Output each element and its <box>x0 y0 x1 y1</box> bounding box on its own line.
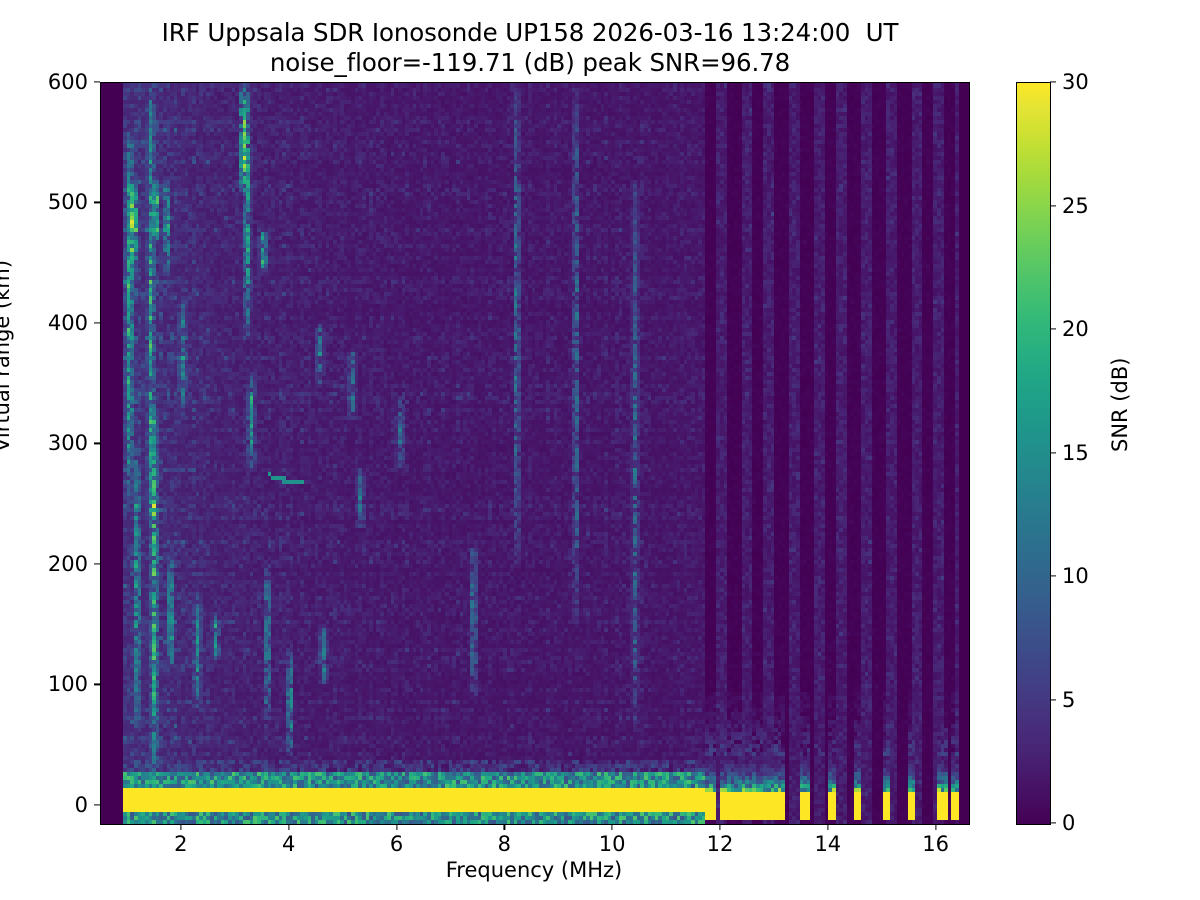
x-tick-label: 2 <box>174 832 187 856</box>
y-tick-label: 0 <box>26 793 88 817</box>
x-tick-label: 14 <box>814 832 841 856</box>
y-tick-mark <box>94 684 100 685</box>
x-axis-label: Frequency (MHz) <box>100 858 968 882</box>
colorbar-tick-label: 0 <box>1062 811 1075 835</box>
title-line-2: noise_floor=-119.71 (dB) peak SNR=96.78 <box>0 48 1060 78</box>
colorbar-label: SNR (dB) <box>1108 358 1132 452</box>
colorbar-tick-mark <box>1050 699 1056 700</box>
colorbar-tick-mark <box>1050 205 1056 206</box>
x-tick-label: 12 <box>707 832 734 856</box>
colorbar-tick-label: 25 <box>1062 194 1089 218</box>
ionogram-heatmap <box>101 83 969 824</box>
y-tick-label: 500 <box>26 190 88 214</box>
y-tick-label: 100 <box>26 672 88 696</box>
colorbar-tick-label: 15 <box>1062 441 1089 465</box>
x-tick-mark <box>612 824 613 830</box>
colorbar-tick-mark <box>1050 452 1056 453</box>
x-tick-mark <box>504 824 505 830</box>
y-tick-mark <box>94 804 100 805</box>
plot-axes <box>100 82 970 825</box>
ionogram-figure: IRF Uppsala SDR Ionosonde UP158 2026-03-… <box>0 0 1200 900</box>
y-axis-label: Virtual range (km) <box>0 260 14 452</box>
x-tick-mark <box>180 824 181 830</box>
colorbar-tick-label: 5 <box>1062 688 1075 712</box>
colorbar-tick-mark <box>1050 575 1056 576</box>
x-tick-label: 16 <box>922 832 949 856</box>
x-tick-mark <box>288 824 289 830</box>
x-tick-label: 8 <box>498 832 511 856</box>
colorbar-tick-label: 30 <box>1062 70 1089 94</box>
y-tick-mark <box>94 563 100 564</box>
x-tick-label: 10 <box>599 832 626 856</box>
x-tick-label: 4 <box>282 832 295 856</box>
x-tick-mark <box>935 824 936 830</box>
y-tick-mark <box>94 443 100 444</box>
colorbar <box>1016 82 1051 825</box>
y-tick-mark <box>94 81 100 82</box>
y-tick-label: 300 <box>26 431 88 455</box>
x-tick-mark <box>396 824 397 830</box>
y-tick-label: 400 <box>26 311 88 335</box>
y-tick-mark <box>94 202 100 203</box>
x-tick-mark <box>827 824 828 830</box>
colorbar-tick-mark <box>1050 81 1056 82</box>
title-line-1: IRF Uppsala SDR Ionosonde UP158 2026-03-… <box>0 18 1060 48</box>
colorbar-tick-label: 10 <box>1062 564 1089 588</box>
y-tick-mark <box>94 322 100 323</box>
colorbar-tick-label: 20 <box>1062 317 1089 341</box>
colorbar-gradient <box>1017 83 1050 824</box>
y-tick-label: 200 <box>26 552 88 576</box>
y-tick-label: 600 <box>26 70 88 94</box>
colorbar-tick-mark <box>1050 822 1056 823</box>
x-tick-mark <box>719 824 720 830</box>
x-tick-label: 6 <box>390 832 403 856</box>
figure-title: IRF Uppsala SDR Ionosonde UP158 2026-03-… <box>0 18 1060 79</box>
colorbar-tick-mark <box>1050 328 1056 329</box>
